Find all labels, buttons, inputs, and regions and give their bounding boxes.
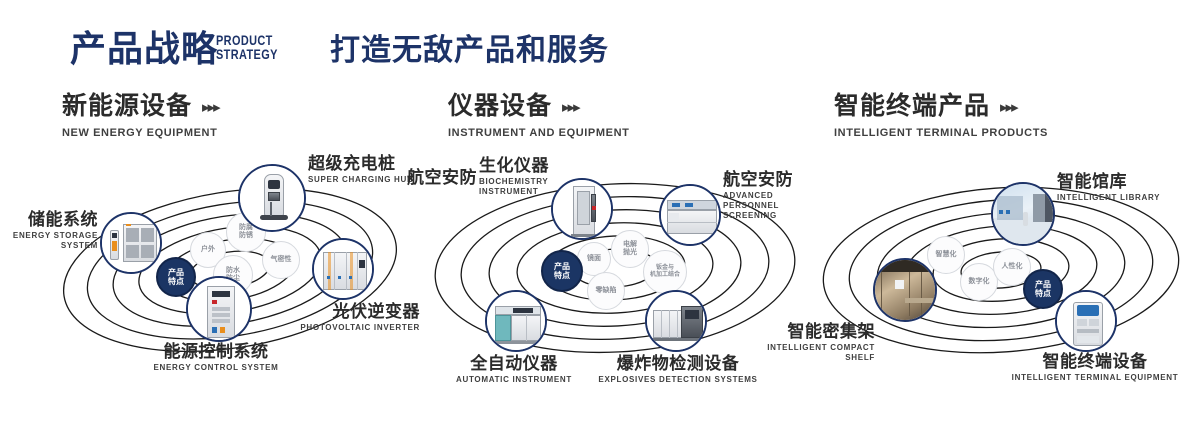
section-title-en: INTELLIGENT TERMINAL PRODUCTS xyxy=(834,127,1048,139)
node-photo-photovoltaic-inverter[interactable] xyxy=(312,238,374,300)
section-title-cn-text: 新能源设备 xyxy=(62,92,192,120)
node-label-energy-control-system: 能源控制系统 ENERGY CONTROL SYSTEM xyxy=(86,342,346,373)
node-label-cn: 超级充电桩 xyxy=(308,154,414,173)
node-photo-energy-storage-system[interactable] xyxy=(100,212,162,274)
section-title-cn-text: 智能终端产品 xyxy=(834,92,990,120)
core-bubble-text-1: 产品 xyxy=(168,268,184,278)
node-label-cn: 航空安防 xyxy=(723,170,815,189)
section-heading-instrument: 仪器设备▸▸▸ INSTRUMENT AND EQUIPMENT xyxy=(448,92,629,139)
section-title-cn: 智能终端产品▸▸▸ xyxy=(834,92,1048,122)
core-bubble-text-2: 特点 xyxy=(168,277,184,287)
feature-bubble-text: 镜面 xyxy=(587,255,601,264)
node-label-en: EXPLOSIVES DETECTION SYSTEMS xyxy=(573,375,783,385)
node-photo-intelligent-terminal-equipment[interactable] xyxy=(1055,290,1117,352)
chevron-right-triple-icon: ▸▸▸ xyxy=(202,94,219,122)
feature-bubble-text: 钣金与 xyxy=(656,265,674,273)
node-photo-biochemistry-instrument[interactable] xyxy=(551,178,613,240)
node-label-cn: 储能系统 xyxy=(2,210,98,229)
core-bubble-product-features: 产品 特点 xyxy=(541,250,583,292)
feature-bubble-text-2: 抛光 xyxy=(623,249,637,258)
node-label-intelligent-library: 智能馆库 INTELLIGENT LIBRARY xyxy=(1057,172,1160,203)
page-title-en-line1: PRODUCT xyxy=(216,33,278,47)
node-label-en: PHOTOVOLTAIC INVERTER xyxy=(270,323,420,333)
section-heading-intelligent-terminal: 智能终端产品▸▸▸ INTELLIGENT TERMINAL PRODUCTS xyxy=(834,92,1048,139)
section-heading-new-energy: 新能源设备▸▸▸ NEW ENERGY EQUIPMENT xyxy=(62,92,219,139)
feature-bubble: 气密性 xyxy=(262,241,300,279)
node-label-intelligent-compact-shelf: 智能密集架 INTELLIGENT COMPACT SHELF xyxy=(739,322,875,363)
section-title-en: NEW ENERGY EQUIPMENT xyxy=(62,127,219,139)
node-label-en: SUPER CHARGING HUB xyxy=(308,175,414,185)
node-label-photovoltaic-inverter: 光伏逆变器 PHOTOVOLTAIC INVERTER xyxy=(270,302,420,333)
node-photo-automatic-instrument[interactable] xyxy=(485,290,547,352)
feature-bubble-text: 零缺陷 xyxy=(596,287,617,296)
node-label-cn: 能源控制系统 xyxy=(86,342,346,361)
node-label-en: INTELLIGENT LIBRARY xyxy=(1057,193,1160,203)
cluster-instrument: 镜面 电解 抛光 钣金与 机加工结合 零缺陷 产品 特点 航空安防 xyxy=(415,150,815,410)
node-label-aviation-security-left: 航空安防 xyxy=(407,168,477,187)
section-title-en: INSTRUMENT AND EQUIPMENT xyxy=(448,127,629,139)
node-label-en: ENERGY CONTROL SYSTEM xyxy=(86,363,346,373)
cluster-new-energy: 户外 防腐 防锈 防水 防尘 气密性 产品 特点 xyxy=(40,150,420,410)
page-subtitle: 打造无敌产品和服务 xyxy=(330,32,609,70)
node-label-en: BIOCHEMISTRY INSTRUMENT xyxy=(479,177,541,197)
node-label-en: INTELLIGENT TERMINAL EQUIPMENT xyxy=(995,373,1195,383)
feature-bubble: 零缺陷 xyxy=(587,272,625,310)
section-title-cn: 仪器设备▸▸▸ xyxy=(448,92,629,122)
node-label-en: INTELLIGENT COMPACT SHELF xyxy=(739,343,875,363)
feature-bubble-text-2: 机加工结合 xyxy=(650,272,680,280)
node-photo-intelligent-compact-shelf[interactable] xyxy=(873,258,937,322)
node-label-cn: 光伏逆变器 xyxy=(270,302,420,321)
product-strategy-infographic: 产品战略 PRODUCT STRATEGY 打造无敌产品和服务 新能源设备▸▸▸… xyxy=(0,0,1200,422)
core-bubble-text-2: 特点 xyxy=(1035,289,1051,299)
node-label-biochemistry-instrument: 生化仪器 BIOCHEMISTRY INSTRUMENT xyxy=(479,156,541,197)
node-label-advanced-personnel-screening: 航空安防 ADVANCED PERSONNEL SCREENING xyxy=(723,170,815,221)
node-label-en: ADVANCED PERSONNEL SCREENING xyxy=(723,191,815,221)
node-label-cn: 智能终端设备 xyxy=(995,352,1195,371)
node-photo-super-charging-hub[interactable] xyxy=(238,164,306,232)
node-label-en: ENERGY STORAGE SYSTEM xyxy=(2,231,98,251)
feature-bubble: 钣金与 机加工结合 xyxy=(643,250,687,294)
node-label-cn: 智能馆库 xyxy=(1057,172,1160,191)
core-bubble-text-1: 产品 xyxy=(554,262,570,272)
feature-bubble-text: 数字化 xyxy=(969,278,990,287)
feature-bubble-text: 人性化 xyxy=(1002,263,1023,272)
page-title-en: PRODUCT STRATEGY xyxy=(216,33,278,61)
cluster-intelligent-terminal: 智慧化 数字化 人性化 产品 特点 智能馆库 INTELLIG xyxy=(805,150,1200,410)
node-photo-energy-control-system[interactable] xyxy=(186,276,252,342)
feature-bubble-text: 防水 xyxy=(226,267,240,276)
feature-bubble-text: 智慧化 xyxy=(936,251,957,260)
feature-bubble-text: 气密性 xyxy=(271,256,292,265)
feature-bubble-text-2: 防锈 xyxy=(239,232,253,241)
page-title-en-line2: STRATEGY xyxy=(216,47,278,61)
node-photo-advanced-personnel-screening[interactable] xyxy=(659,184,721,246)
node-photo-intelligent-library[interactable] xyxy=(991,182,1055,246)
section-title-cn: 新能源设备▸▸▸ xyxy=(62,92,219,122)
feature-bubble-text: 户外 xyxy=(201,246,215,255)
node-label-energy-storage-system: 储能系统 ENERGY STORAGE SYSTEM xyxy=(2,210,98,251)
node-label-cn: 生化仪器 xyxy=(479,156,541,175)
chevron-right-triple-icon: ▸▸▸ xyxy=(562,94,579,122)
core-bubble-text-1: 产品 xyxy=(1035,280,1051,290)
node-photo-explosives-detection-systems[interactable] xyxy=(645,290,707,352)
node-label-cn: 航空安防 xyxy=(407,168,477,187)
chevron-right-triple-icon: ▸▸▸ xyxy=(1000,94,1017,122)
feature-bubble-text: 电解 xyxy=(623,241,637,250)
section-title-cn-text: 仪器设备 xyxy=(448,92,552,120)
page-header: 产品战略 PRODUCT STRATEGY 打造无敌产品和服务 xyxy=(0,0,1200,90)
page-title-cn: 产品战略 xyxy=(70,28,218,70)
feature-bubble: 电解 抛光 xyxy=(611,230,649,268)
node-label-super-charging-hub: 超级充电桩 SUPER CHARGING HUB xyxy=(308,154,414,185)
node-label-cn: 智能密集架 xyxy=(739,322,875,341)
core-bubble-text-2: 特点 xyxy=(554,271,570,281)
node-label-intelligent-terminal-equipment: 智能终端设备 INTELLIGENT TERMINAL EQUIPMENT xyxy=(995,352,1195,383)
